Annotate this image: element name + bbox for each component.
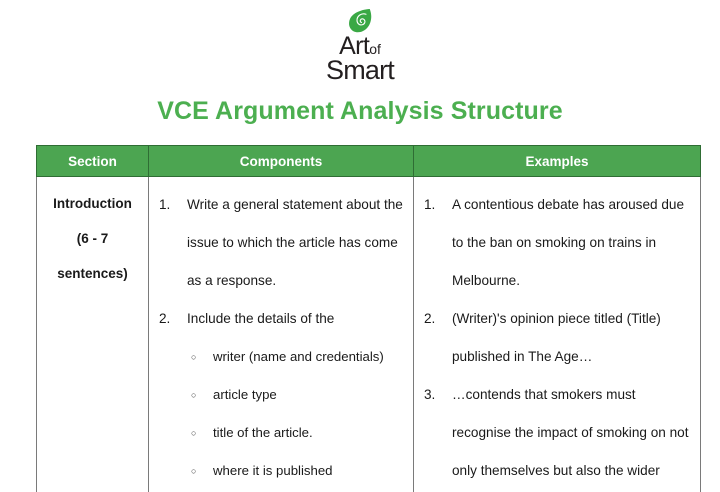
circle-bullet-icon: ○ [191, 414, 196, 452]
section-label-line-2: (6 - 7 [45, 221, 140, 256]
list-item: 1. Write a general statement about the i… [157, 186, 405, 300]
list-item-text: where it is published [213, 463, 333, 478]
list-item-text: Include the details of the [187, 300, 405, 338]
list-item: 1. A contentious debate has aroused due … [422, 186, 692, 300]
list-item: 3. …contends that smokers must recognise… [422, 376, 692, 492]
column-header-components: Components [149, 146, 414, 177]
components-sublist: ○ writer (name and credentials) ○ articl… [187, 338, 405, 490]
list-item: 2. Include the details of the ○ writer (… [157, 300, 405, 490]
list-item-text: Write a general statement about the issu… [187, 186, 405, 300]
structure-table-wrapper: Section Components Examples Introduction… [36, 145, 700, 492]
list-item-text: A contentious debate has aroused due to … [452, 186, 692, 300]
cell-section: Introduction (6 - 7 sentences) [37, 177, 149, 492]
structure-table: Section Components Examples Introduction… [36, 145, 701, 492]
cell-components: 1. Write a general statement about the i… [149, 177, 414, 492]
list-item: ○ writer (name and credentials) [187, 338, 405, 376]
list-item-text: (Writer)'s opinion piece titled (Title) … [452, 300, 692, 376]
list-item-number: 3. [424, 376, 446, 414]
list-item: ○ where it is published [187, 452, 405, 490]
list-item-number: 1. [424, 186, 446, 224]
column-header-section: Section [37, 146, 149, 177]
list-item-number: 2. [159, 300, 181, 338]
list-item-text: writer (name and credentials) [213, 349, 384, 364]
components-list: 1. Write a general statement about the i… [157, 186, 405, 492]
circle-bullet-icon: ○ [191, 376, 196, 414]
list-item: ○ title of the article. [187, 414, 405, 452]
list-item-text: title of the article. [213, 425, 313, 440]
document-page: Artof Smart VCE Argument Analysis Struct… [0, 0, 720, 492]
brand-wordmark: Artof Smart [0, 35, 720, 83]
column-header-examples: Examples [414, 146, 701, 177]
brand-name-line-2: Smart [0, 58, 720, 83]
list-item: ○ article type [187, 376, 405, 414]
table-header-row: Section Components Examples [37, 146, 701, 177]
cell-examples: 1. A contentious debate has aroused due … [414, 177, 701, 492]
circle-bullet-icon: ○ [191, 338, 196, 376]
list-item-number: 2. [424, 300, 446, 338]
list-item-text: article type [213, 387, 277, 402]
list-item: 2. (Writer)'s opinion piece titled (Titl… [422, 300, 692, 376]
list-item-text: …contends that smokers must recognise th… [452, 376, 692, 492]
table-row: Introduction (6 - 7 sentences) 1. Write … [37, 177, 701, 492]
section-label-line-3: sentences) [45, 256, 140, 291]
brand-logo: Artof Smart [0, 6, 720, 83]
examples-list: 1. A contentious debate has aroused due … [422, 186, 692, 492]
section-label-line-1: Introduction [45, 186, 140, 221]
list-item-number: 1. [159, 186, 181, 224]
page-title: VCE Argument Analysis Structure [0, 97, 720, 126]
circle-bullet-icon: ○ [191, 452, 196, 490]
